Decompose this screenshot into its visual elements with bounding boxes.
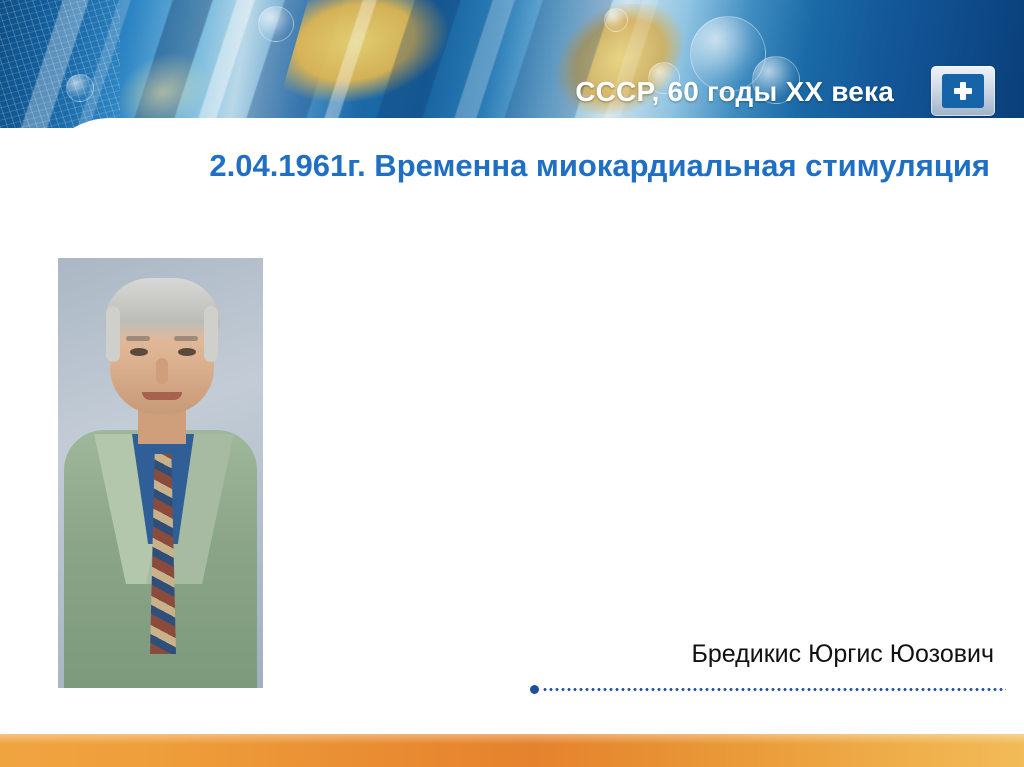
medical-cross-icon bbox=[942, 74, 984, 108]
portrait-eyebrow bbox=[126, 336, 150, 341]
portrait-hair bbox=[104, 278, 220, 340]
portrait-photo bbox=[58, 258, 263, 688]
underline-dotted-line bbox=[542, 688, 1006, 691]
slide-footer-bar bbox=[0, 734, 1024, 767]
portrait-caption: Бредикис Юргис Юозович bbox=[692, 640, 995, 669]
underline-dot bbox=[530, 685, 539, 694]
portrait-eyebrow bbox=[174, 336, 198, 341]
slide-banner-image bbox=[0, 0, 1024, 128]
portrait-nose bbox=[156, 358, 168, 384]
presentation-slide: СССР, 60 годы XX века 2.04.1961г. Времен… bbox=[0, 0, 1024, 767]
portrait-hair-side bbox=[204, 306, 218, 362]
banner-bubble bbox=[604, 8, 628, 32]
portrait-eye bbox=[130, 348, 148, 356]
portrait-eye bbox=[178, 348, 196, 356]
caption-underline bbox=[530, 684, 1006, 694]
portrait-hair-side bbox=[106, 306, 120, 362]
slide-header-title: СССР, 60 годы XX века bbox=[575, 76, 894, 108]
medical-cross-badge bbox=[931, 66, 995, 116]
slide-footer-spacer bbox=[0, 708, 1024, 734]
portrait-mouth bbox=[142, 392, 182, 400]
banner-bubble bbox=[258, 6, 294, 42]
banner-bubble bbox=[66, 74, 94, 102]
page-title: 2.04.1961г. Временна миокардиальная стим… bbox=[110, 146, 990, 187]
cross-glyph bbox=[953, 81, 973, 101]
